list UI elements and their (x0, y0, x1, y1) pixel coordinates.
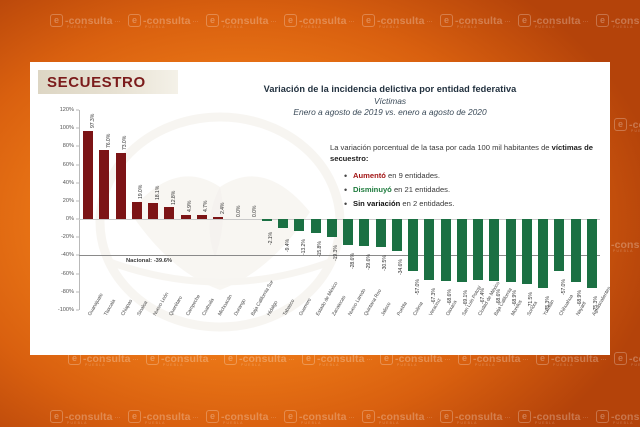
watermark-suffix: ... (505, 17, 511, 24)
bar-column[interactable]: 19.0% (132, 110, 142, 310)
bar-column[interactable]: -15.8% (311, 110, 321, 310)
watermark-suffix: ... (427, 17, 433, 24)
bar[interactable] (246, 219, 256, 220)
legend-key-novariation: Sin variación (353, 199, 400, 208)
bar[interactable] (148, 203, 158, 219)
bar-value-label: 76.0% (106, 133, 112, 147)
bar[interactable] (376, 219, 386, 247)
watermark-text: -consulta (221, 15, 269, 27)
bar[interactable] (164, 207, 174, 219)
watermark-subtext: PUEBLA (163, 363, 184, 367)
category-band: SECUESTRO (38, 70, 178, 94)
watermark-logo-icon: e (128, 14, 141, 27)
watermark-suffix: ... (289, 355, 295, 362)
watermark-logo-icon: e (206, 410, 219, 423)
y-axis-tick-label: -80% (61, 289, 74, 295)
watermark-subtext: PUEBLA (457, 25, 478, 29)
watermark-subtext: PUEBLA (631, 363, 640, 367)
bar-value-label: 4.9% (187, 201, 193, 212)
bar-value-label: -15.8% (317, 242, 323, 258)
watermark-suffix: ... (505, 413, 511, 420)
watermark-logo-icon: e (596, 410, 609, 423)
legend-item-increase: Aumentó en 9 entidades. (344, 169, 605, 183)
bar[interactable] (116, 153, 126, 219)
watermark-econsulta: e-consulta...PUEBLA (128, 14, 198, 27)
watermark-suffix: ... (445, 355, 451, 362)
watermark-suffix: ... (115, 413, 121, 420)
watermark-logo-icon: e (284, 14, 297, 27)
bar[interactable] (392, 219, 402, 250)
bar[interactable] (424, 219, 434, 280)
bar[interactable] (489, 219, 499, 281)
watermark-econsulta: e-consulta...PUEBLA (50, 14, 120, 27)
watermark-suffix: ... (271, 17, 277, 24)
bar-value-label: -34.6% (398, 259, 404, 275)
watermark-text: -consulta (629, 119, 640, 131)
legend-rest-novariation: en 2 entidades. (400, 199, 454, 208)
watermark-econsulta: e-consulta...PUEBLA (284, 14, 354, 27)
watermark-logo-icon: e (518, 410, 531, 423)
watermark-logo-icon: e (362, 14, 375, 27)
chart-subtitle: Víctimas (180, 96, 600, 106)
legend-note: La variación porcentual de la tasa por c… (330, 142, 605, 211)
bar[interactable] (554, 219, 564, 271)
legend-key-increase: Aumentó (353, 171, 386, 180)
bar-column[interactable]: 18.1% (148, 110, 158, 310)
y-axis-tick-label: -40% (61, 252, 74, 258)
bar[interactable] (83, 131, 93, 219)
watermark-subtext: PUEBLA (553, 363, 574, 367)
watermark-logo-icon: e (614, 118, 627, 131)
watermark-subtext: PUEBLA (145, 25, 166, 29)
watermark-text: -consulta (455, 411, 503, 423)
bar-value-label: -57.0% (561, 279, 567, 295)
bar[interactable] (473, 219, 483, 280)
watermark-logo-icon: e (50, 14, 63, 27)
watermark-logo-icon: e (518, 14, 531, 27)
chart-title: Variación de la incidencia delictiva por… (180, 84, 600, 94)
watermark-text: -consulta (143, 15, 191, 27)
bar-value-label: -19.3% (333, 245, 339, 261)
watermark-econsulta: e-consulta...PUEBLA (50, 410, 120, 423)
watermark-text: -consulta (629, 353, 640, 365)
watermark-text: -consulta (299, 15, 347, 27)
watermark-text: -consulta (377, 15, 425, 27)
bar[interactable] (278, 219, 288, 228)
watermark-subtext: PUEBLA (301, 25, 322, 29)
watermark-econsulta: e-consulta...PUEBLA (206, 410, 276, 423)
watermark-subtext: PUEBLA (379, 25, 400, 29)
bar-value-label: 19.0% (138, 185, 144, 199)
bar-column[interactable]: 0.0% (246, 110, 256, 310)
watermark-subtext: PUEBLA (85, 363, 106, 367)
chart-titles: Variación de la incidencia delictiva por… (180, 84, 600, 117)
watermark-logo-icon: e (362, 410, 375, 423)
bar[interactable] (441, 219, 451, 281)
bar-value-label: 18.1% (155, 186, 161, 200)
bar-column[interactable]: -9.4% (278, 110, 288, 310)
y-axis-tick-label: 120% (60, 107, 74, 113)
bar[interactable] (587, 219, 597, 287)
y-axis-tick-label: -60% (61, 271, 74, 277)
watermark-text: -consulta (533, 15, 581, 27)
y-axis-tick-label: 0% (66, 216, 74, 222)
bar[interactable] (197, 215, 207, 219)
watermark-subtext: PUEBLA (223, 421, 244, 425)
watermark-logo-icon: e (440, 14, 453, 27)
y-axis-tick-label: 100% (60, 125, 74, 131)
bar-column[interactable]: 97.3% (83, 110, 93, 310)
bar[interactable] (262, 219, 272, 221)
watermark-subtext: PUEBLA (457, 421, 478, 425)
bar-column[interactable]: 2.4% (213, 110, 223, 310)
bar-column[interactable]: 4.9% (181, 110, 191, 310)
bar-value-label: 0.0% (236, 205, 242, 216)
watermark-text: -consulta (299, 411, 347, 423)
legend-rest-increase: en 9 entidades. (386, 171, 440, 180)
watermark-text: -consulta (533, 411, 581, 423)
bar[interactable] (213, 217, 223, 219)
legend-note-lead: La variación porcentual de la tasa por c… (330, 142, 605, 164)
watermark-econsulta: e-consulta...PUEBLA (596, 14, 640, 27)
watermark-subtext: PUEBLA (535, 421, 556, 425)
watermark-subtext: PUEBLA (613, 421, 634, 425)
watermark-subtext: PUEBLA (241, 363, 262, 367)
bar[interactable] (408, 219, 418, 271)
watermark-econsulta: e-consulta...PUEBLA (596, 410, 640, 423)
watermark-suffix: ... (133, 355, 139, 362)
bar-value-label: 73.0% (122, 136, 128, 150)
watermark-text: -consulta (221, 411, 269, 423)
bar[interactable] (327, 219, 337, 237)
bar[interactable] (99, 150, 109, 219)
legend-key-decrease: Disminuyó (353, 185, 392, 194)
bar[interactable] (294, 219, 304, 231)
bar[interactable] (571, 219, 581, 282)
watermark-subtext: PUEBLA (67, 25, 88, 29)
watermark-subtext: PUEBLA (613, 249, 634, 253)
legend-lead-colon: : (366, 154, 369, 163)
y-axis-tick-label: 60% (63, 162, 74, 168)
bar-column[interactable]: 12.8% (164, 110, 174, 310)
watermark-text: -consulta (611, 15, 640, 27)
watermark-suffix: ... (367, 355, 373, 362)
watermark-logo-icon: e (596, 14, 609, 27)
bar[interactable] (538, 219, 548, 287)
bar-value-label: 97.3% (90, 114, 96, 128)
bar-value-label: -13.2% (301, 239, 307, 255)
watermark-subtext: PUEBLA (613, 25, 634, 29)
bar[interactable] (343, 219, 353, 245)
watermark-subtext: PUEBLA (67, 421, 88, 425)
watermark-subtext: PUEBLA (631, 129, 640, 133)
watermark-suffix: ... (427, 413, 433, 420)
watermark-econsulta: e-consulta...PUEBLA (284, 410, 354, 423)
watermark-econsulta: e-consulta...PUEBLA (440, 410, 510, 423)
y-axis: 120%100%80%60%40%20%0%-20%-40%-60%-80%-1… (48, 110, 78, 310)
legend-list: Aumentó en 9 entidades. Disminuyó en 21 … (344, 169, 605, 211)
watermark-suffix: ... (349, 17, 355, 24)
watermark-suffix: ... (601, 355, 607, 362)
watermark-logo-icon: e (614, 352, 627, 365)
watermark-econsulta: e-consulta...PUEBLA (440, 14, 510, 27)
watermark-subtext: PUEBLA (397, 363, 418, 367)
category-band-label: SECUESTRO (47, 74, 146, 91)
watermark-text: -consulta (143, 411, 191, 423)
watermark-suffix: ... (583, 17, 589, 24)
watermark-econsulta: e-consulta...PUEBLA (614, 352, 640, 365)
y-axis-tick-label: 20% (63, 198, 74, 204)
watermark-text: -consulta (611, 411, 640, 423)
bar[interactable] (506, 219, 516, 282)
bar[interactable] (229, 219, 239, 220)
watermark-subtext: PUEBLA (379, 421, 400, 425)
watermark-text: -consulta (65, 15, 113, 27)
watermark-subtext: PUEBLA (535, 25, 556, 29)
watermark-text: -consulta (611, 239, 640, 251)
bar[interactable] (311, 219, 321, 233)
watermark-logo-icon: e (128, 410, 141, 423)
watermark-text: -consulta (65, 411, 113, 423)
bar[interactable] (457, 219, 467, 282)
y-axis-tick-label: -100% (58, 307, 74, 313)
watermark-econsulta: e-consulta...PUEBLA (518, 410, 588, 423)
bar-column[interactable]: 76.0% (99, 110, 109, 310)
watermark-suffix: ... (211, 355, 217, 362)
watermark-subtext: PUEBLA (319, 363, 340, 367)
watermark-econsulta: e-consulta...PUEBLA (614, 118, 640, 131)
watermark-logo-icon: e (206, 14, 219, 27)
bar[interactable] (359, 219, 369, 246)
bar-value-label: -9.4% (285, 239, 291, 252)
watermark-text: -consulta (377, 411, 425, 423)
screenshot-root: e-consulta...PUEBLAe-consulta...PUEBLAe-… (0, 0, 640, 427)
bar-value-label: -29.6% (366, 254, 372, 270)
bar-value-label: -30.5% (382, 255, 388, 271)
watermark-suffix: ... (193, 17, 199, 24)
bar-value-label: -2.1% (268, 232, 274, 245)
watermark-econsulta: e-consulta...PUEBLA (206, 14, 276, 27)
x-axis-labels: GuanajuatoTlaxcalaChiapasSinaloaNuevo Le… (80, 312, 600, 355)
watermark-suffix: ... (193, 413, 199, 420)
chart-period-subtitle: Enero a agosto de 2019 vs. enero a agost… (180, 107, 600, 117)
y-axis-tick-label: -20% (61, 234, 74, 240)
watermark-econsulta: e-consulta...PUEBLA (362, 410, 432, 423)
bar-column[interactable]: 0.0% (229, 110, 239, 310)
y-axis-tick-label: 80% (63, 143, 74, 149)
watermark-suffix: ... (523, 355, 529, 362)
legend-item-decrease: Disminuyó en 21 entidades. (344, 183, 605, 197)
bar[interactable] (181, 215, 191, 219)
bar-value-label: -28.6% (350, 253, 356, 269)
watermark-logo-icon: e (50, 410, 63, 423)
bar-column[interactable]: 73.0% (116, 110, 126, 310)
watermark-suffix: ... (271, 413, 277, 420)
y-axis-tick-label: 40% (63, 180, 74, 186)
watermark-econsulta: e-consulta...PUEBLA (128, 410, 198, 423)
watermark-subtext: PUEBLA (475, 363, 496, 367)
watermark-logo-icon: e (284, 410, 297, 423)
watermark-text: -consulta (455, 15, 503, 27)
watermark-subtext: PUEBLA (301, 421, 322, 425)
legend-lead-text-1: La variación porcentual de la tasa por c… (330, 143, 552, 152)
chart-card: SECUESTRO Variación de la incidencia del… (30, 62, 610, 355)
bar-value-label: -57.0% (415, 279, 421, 295)
bar-value-label: 12.8% (171, 191, 177, 205)
bar[interactable] (522, 219, 532, 284)
watermark-econsulta: e-consulta...PUEBLA (362, 14, 432, 27)
watermark-subtext: PUEBLA (223, 25, 244, 29)
watermark-subtext: PUEBLA (145, 421, 166, 425)
bar-value-label: 2.4% (220, 203, 226, 214)
legend-rest-decrease: en 21 entidades. (392, 185, 450, 194)
bar-column[interactable]: -13.2% (294, 110, 304, 310)
bar-column[interactable]: 4.7% (197, 110, 207, 310)
bar-value-label: 0.0% (252, 205, 258, 216)
bar[interactable] (132, 202, 142, 219)
watermark-suffix: ... (349, 413, 355, 420)
bar-value-label: 4.7% (203, 201, 209, 212)
watermark-suffix: ... (115, 17, 121, 24)
watermark-econsulta: e-consulta...PUEBLA (518, 14, 588, 27)
watermark-suffix: ... (583, 413, 589, 420)
legend-item-novariation: Sin variación en 2 entidades. (344, 197, 605, 211)
watermark-logo-icon: e (440, 410, 453, 423)
